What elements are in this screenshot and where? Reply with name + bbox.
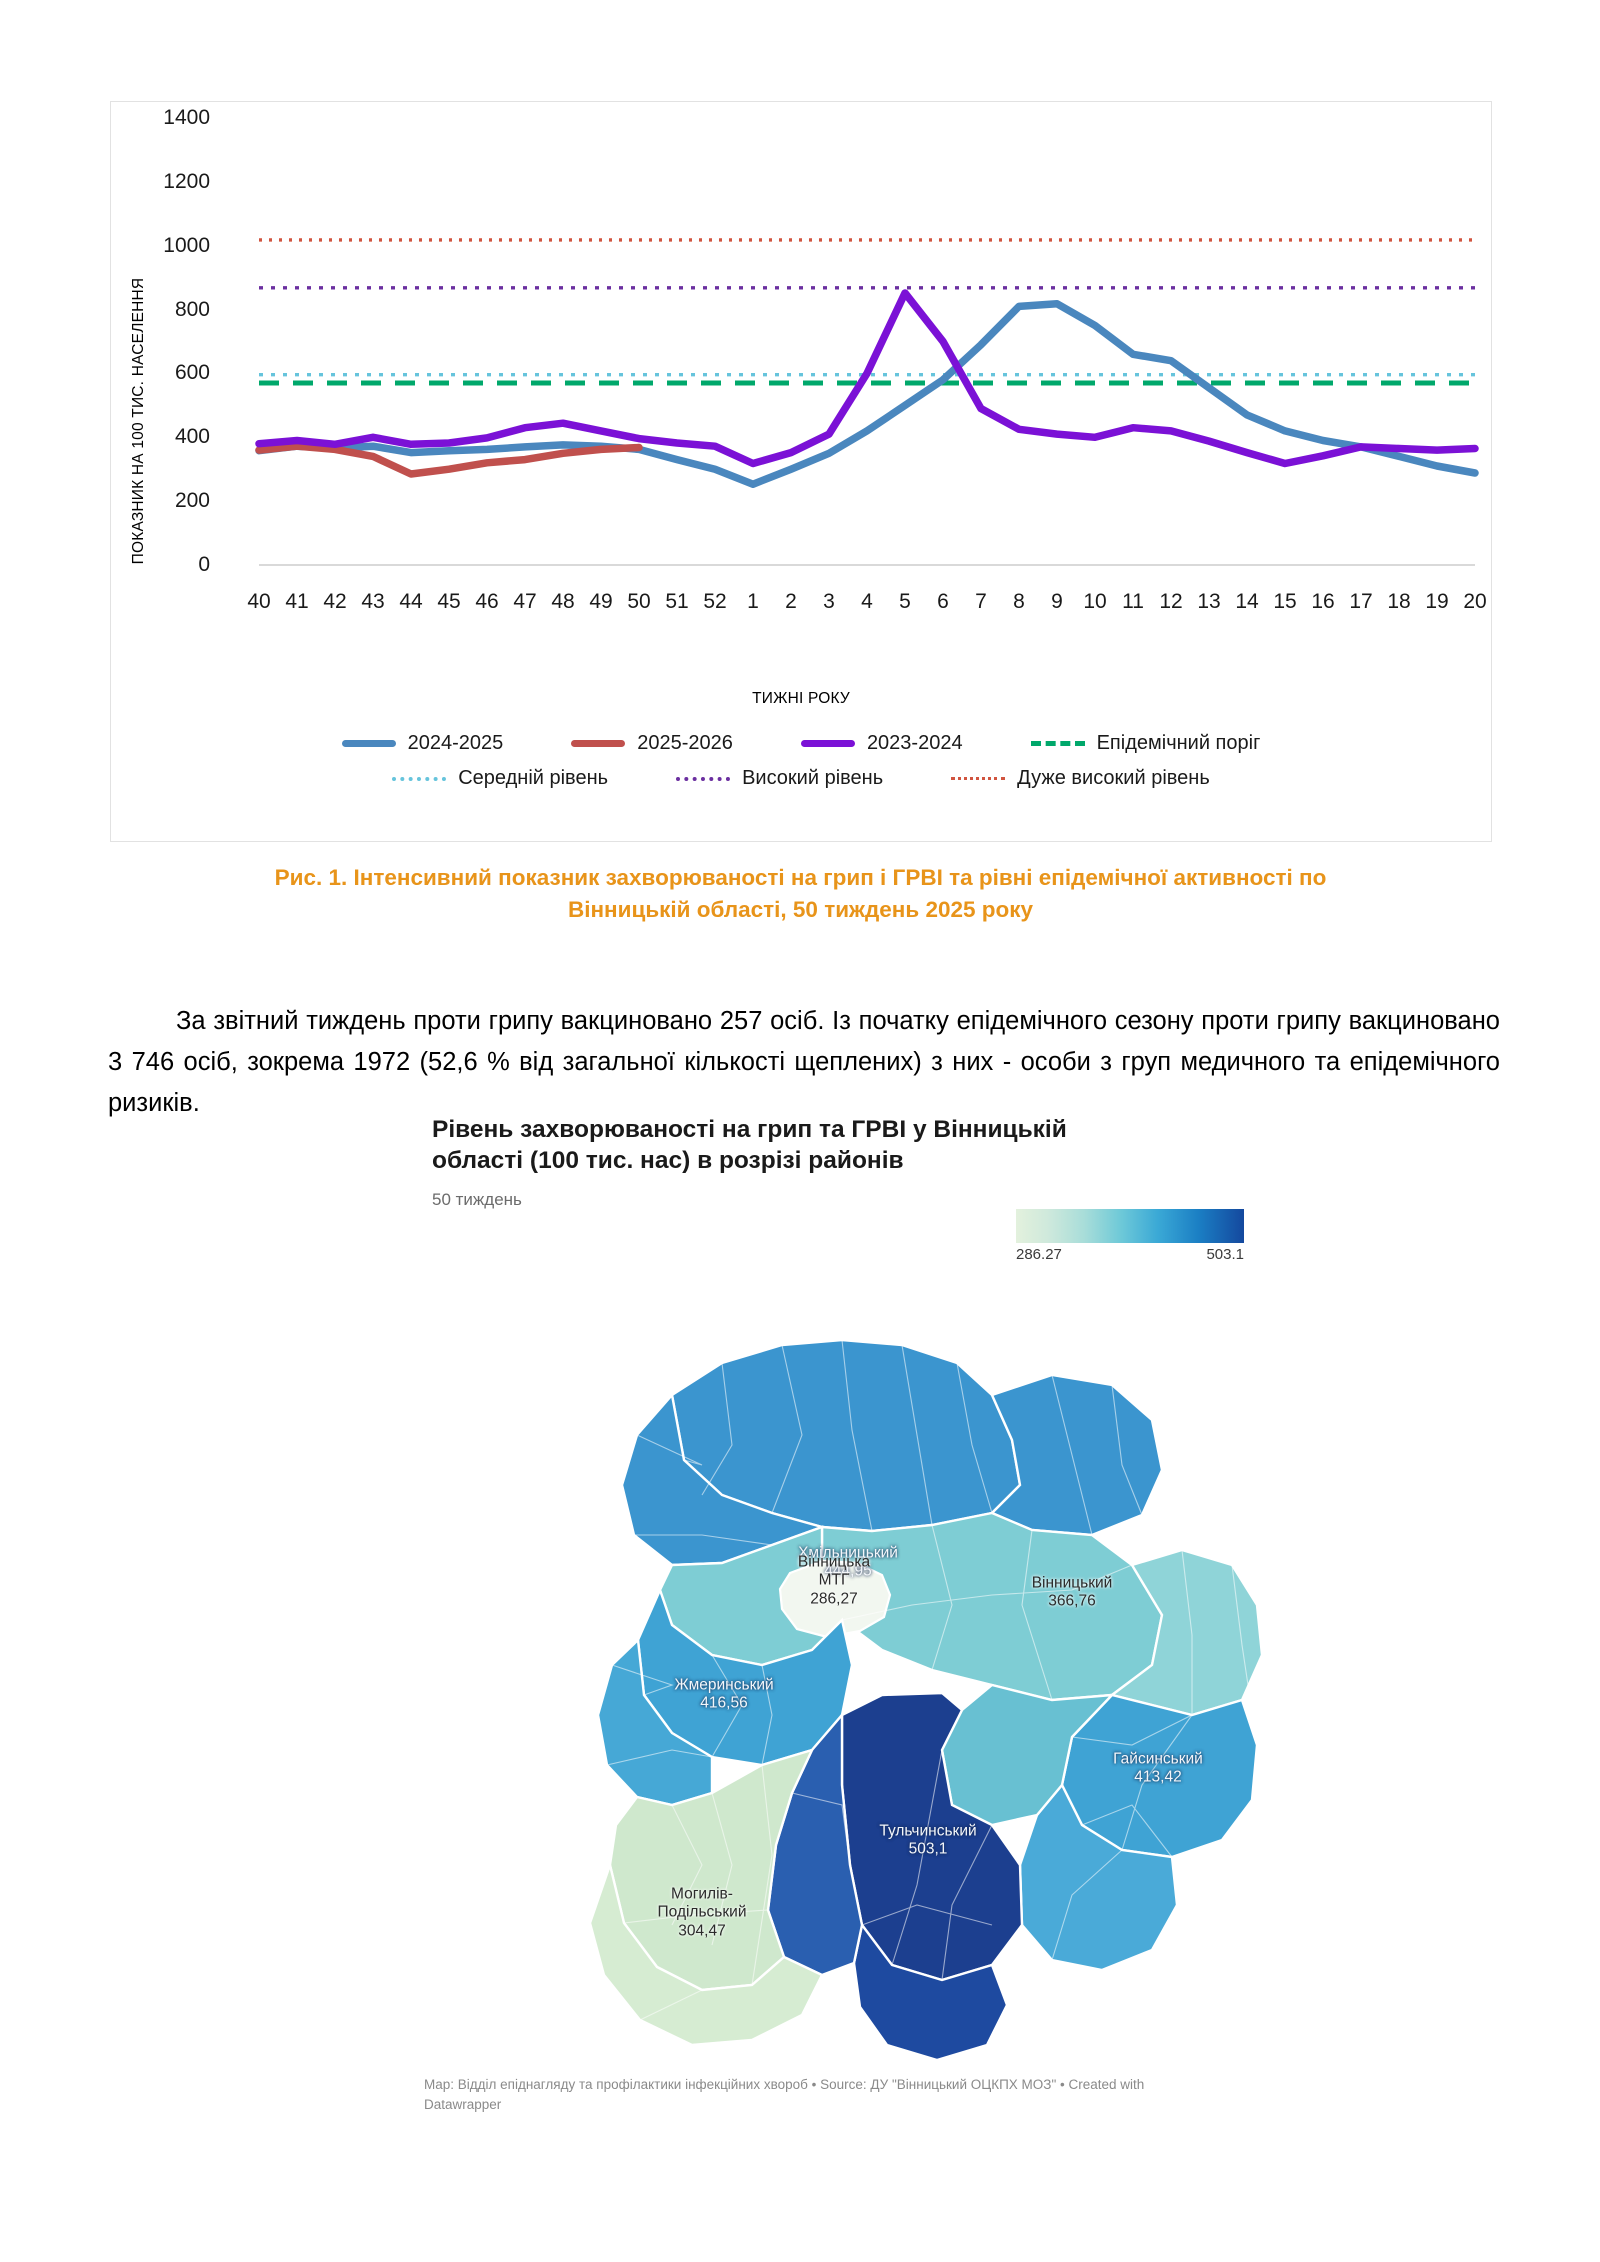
legend-swatch	[1031, 741, 1085, 746]
chart-series-line	[259, 304, 1475, 484]
chart-series-line	[259, 293, 1475, 464]
map-credit: Map: Відділ епіднагляду та профілактики …	[424, 2075, 1214, 2114]
chart-legend-item[interactable]: 2023-2024	[801, 732, 963, 755]
body-paragraph: За звітний тиждень проти грипу вакцинова…	[108, 1001, 1500, 1125]
map-legend-gradient-bar	[1016, 1209, 1244, 1243]
legend-label: Середній рівень	[458, 767, 608, 790]
figure-caption-line-1: Рис. 1. Інтенсивний показник захворювано…	[128, 862, 1473, 894]
map-title: Рівень захворюваності на грип та ГРВІ у …	[432, 1115, 1162, 1176]
chart-legend-item[interactable]: 2024-2025	[342, 732, 504, 755]
legend-swatch	[392, 777, 446, 781]
legend-label: 2023-2024	[867, 732, 963, 755]
chart-card: ПОКАЗНИК НА 100 ТИС. НАСЕЛЕННЯ 020040060…	[110, 101, 1492, 842]
chart-legend-item[interactable]: 2025-2026	[571, 732, 733, 755]
map-choropleth: Хмільницький444,95Вінницька МТГ286,27Він…	[372, 1245, 1292, 2065]
legend-swatch	[571, 740, 625, 747]
map-block: Рівень захворюваності на грип та ГРВІ у …	[432, 1115, 1232, 2125]
legend-swatch	[342, 740, 396, 747]
legend-label: Високий рівень	[742, 767, 883, 790]
chart-legend-item[interactable]: Високий рівень	[676, 767, 883, 790]
chart-legend-row-series: 2024-20252025-20262023-2024Епідемічний п…	[111, 732, 1491, 755]
map-regions-svg	[372, 1245, 1292, 2065]
figure-caption-line-2: Вінницькій області, 50 тиждень 2025 року	[128, 894, 1473, 926]
legend-swatch	[801, 740, 855, 747]
chart-legend-item[interactable]: Дуже високий рівень	[951, 767, 1210, 790]
map-region-north-east[interactable]	[992, 1375, 1162, 1535]
legend-label: 2025-2026	[637, 732, 733, 755]
chart-legend-item[interactable]: Середній рівень	[392, 767, 608, 790]
map-subtitle: 50 тиждень	[432, 1190, 1232, 1210]
chart-legend-item[interactable]: Епідемічний поріг	[1031, 732, 1261, 755]
legend-label: 2024-2025	[408, 732, 504, 755]
map-title-line-1: Рівень захворюваності на грип та ГРВІ у …	[432, 1115, 1162, 1146]
chart-legend-row-thresholds: Середній рівеньВисокий рівеньДуже високи…	[111, 767, 1491, 790]
legend-swatch	[676, 777, 730, 781]
map-title-line-2: області (100 тис. нас) в розрізі районів	[432, 1146, 1162, 1177]
legend-label: Епідемічний поріг	[1097, 732, 1261, 755]
legend-label: Дуже високий рівень	[1017, 767, 1210, 790]
chart-x-axis-title: ТИЖНІ РОКУ	[111, 690, 1491, 708]
chart-legend: 2024-20252025-20262023-2024Епідемічний п…	[111, 732, 1491, 802]
chart-plot-area: ПОКАЗНИК НА 100 ТИС. НАСЕЛЕННЯ 020040060…	[111, 102, 1491, 841]
figure-caption: Рис. 1. Інтенсивний показник захворювано…	[128, 862, 1473, 926]
legend-swatch	[951, 777, 1005, 780]
